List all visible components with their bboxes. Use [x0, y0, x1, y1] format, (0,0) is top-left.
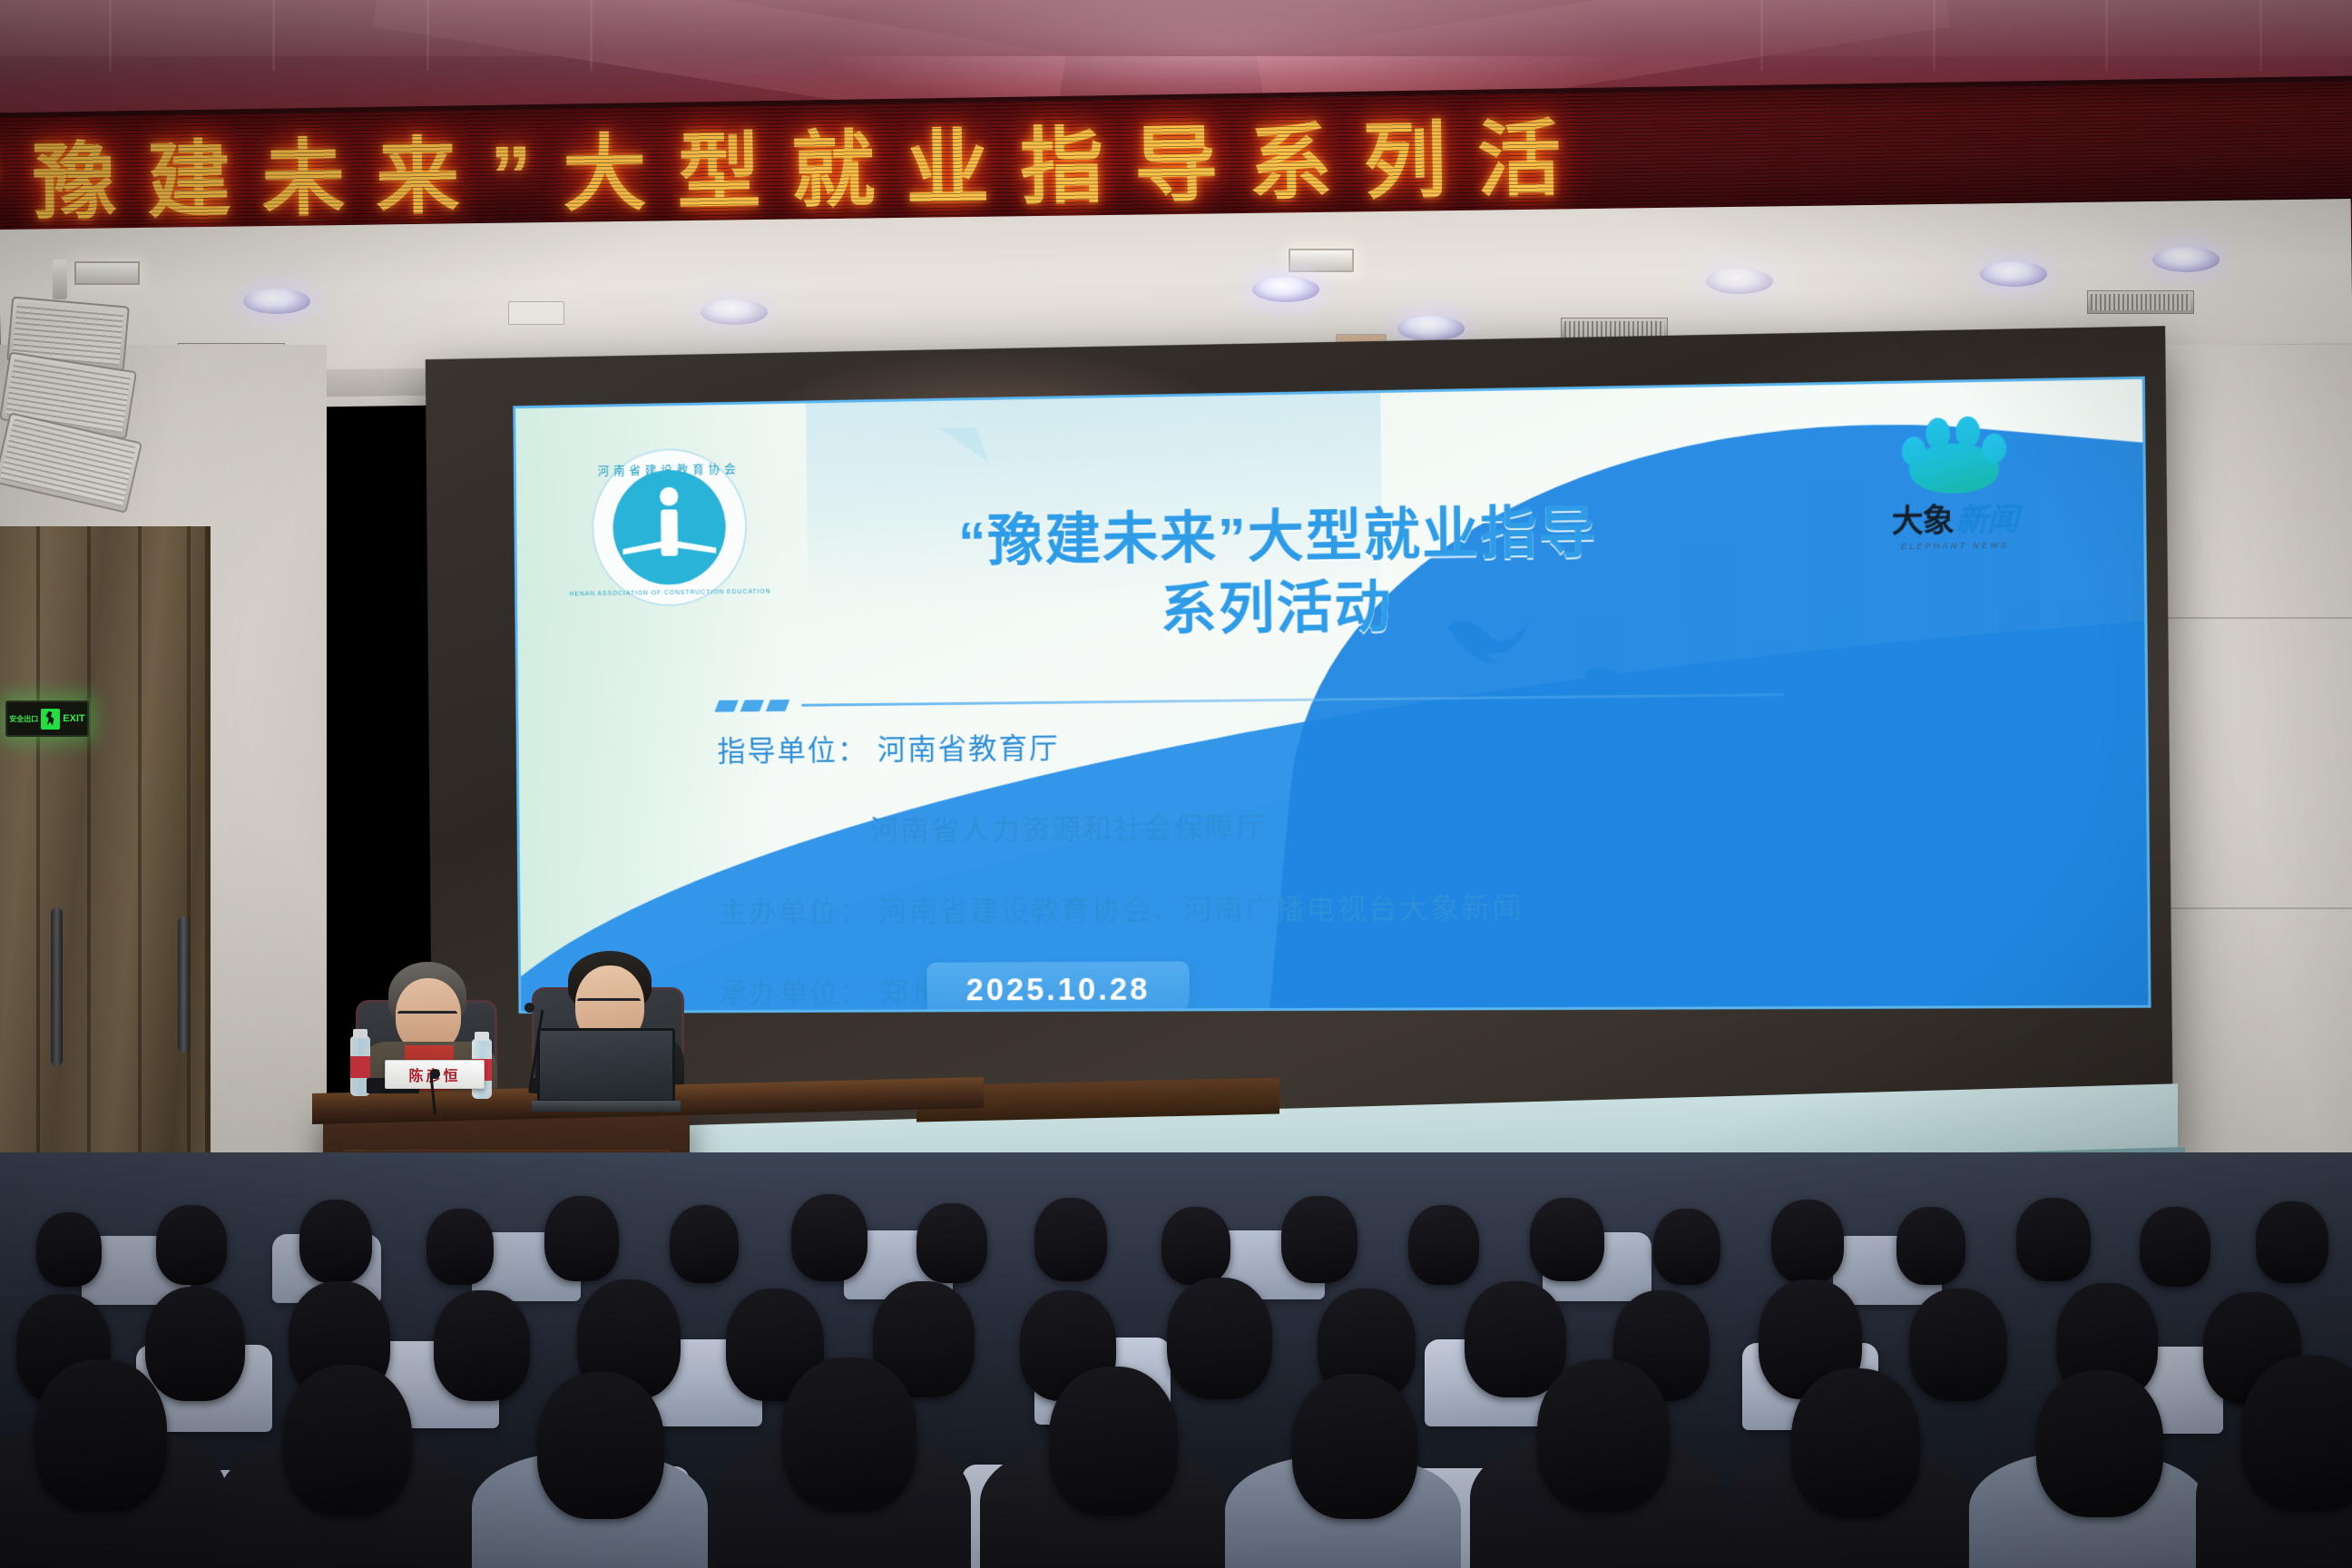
ceiling-downlight	[1397, 316, 1465, 341]
audience-head	[34, 1359, 167, 1512]
brand-cn-daxiang: 大象	[1891, 495, 1953, 542]
audience-head	[1896, 1207, 1965, 1285]
slide-title: “豫建未来”大型就业指导 系列活动	[752, 494, 1814, 652]
logo-left-disc	[612, 469, 726, 585]
audience-head	[36, 1212, 102, 1287]
projection-screen: 河南省建设教育协会 HENAN ASSOCIATION OF CONSTRUCT…	[513, 377, 2151, 1014]
audience-head	[1292, 1374, 1417, 1519]
slide-date-badge: 2025.10.28	[926, 961, 1190, 1013]
door-handle[interactable]	[178, 916, 190, 1053]
audience-head	[544, 1196, 619, 1281]
ceiling-downlight	[701, 299, 768, 325]
emergency-exit-sign: 安全出口 EXIT	[5, 701, 89, 737]
audience-head	[1771, 1200, 1844, 1283]
audience-head	[537, 1372, 664, 1519]
divider-dash	[766, 700, 789, 711]
running-man-icon	[41, 709, 60, 730]
audience-head	[2256, 1201, 2328, 1283]
brand-en-text: ELEPHANT NEWS	[1857, 540, 2053, 552]
logo-figure-body	[661, 509, 678, 556]
exit-sign-label-cn: 安全出口	[9, 714, 38, 724]
audience-head	[2241, 1356, 2352, 1512]
wall-sconce	[53, 260, 67, 299]
ceiling-spotlight	[1289, 249, 1354, 272]
audience-head	[1161, 1207, 1230, 1285]
eyeglasses	[397, 1011, 457, 1019]
audience-head	[1049, 1367, 1178, 1515]
audience-head	[2036, 1370, 2163, 1517]
paw-toe	[1982, 434, 2006, 464]
audience-head	[670, 1205, 739, 1283]
ceiling-sensor	[508, 301, 564, 325]
audience-head	[2016, 1198, 2091, 1281]
elephant-news-wordmark: 大象 新闻	[1857, 494, 2053, 542]
door-handle[interactable]	[51, 907, 63, 1066]
door-groove	[87, 526, 91, 1216]
ceiling-stripe	[1933, 0, 1935, 71]
ceiling-stripe	[1760, 0, 1763, 71]
slide-body-line: 承办单位： 郑州铁路职业技术学院	[720, 965, 1890, 1012]
audience-head	[1034, 1198, 1107, 1281]
slide-title-line2: 系列活动	[752, 566, 1813, 652]
logo-figure-head	[660, 487, 679, 506]
audience-head	[156, 1205, 227, 1285]
audience-head	[1909, 1289, 2007, 1401]
ceiling-stripe	[109, 0, 112, 71]
brand-cn-xinwen: 新闻	[1955, 494, 2018, 540]
audience-head	[916, 1203, 987, 1283]
door-groove	[138, 526, 142, 1216]
ceiling-spotlight	[74, 261, 140, 285]
audience-head	[1408, 1205, 1479, 1285]
audience-head	[2140, 1207, 2210, 1287]
slide-body: 指导单位： 河南省教育厅 河南省人力资源和社会保障厅 主办单位： 河南省建设教育…	[717, 717, 1889, 1014]
auditorium-scene: “豫建未来”大型就业指导系列活 安全出口 EXIT	[0, 0, 2352, 1568]
divider-dash	[740, 700, 764, 711]
divider-dash	[714, 701, 738, 712]
audience-head	[283, 1365, 412, 1515]
ceiling-downlight	[1980, 261, 2047, 287]
audience-head	[1281, 1196, 1357, 1283]
bottle-label	[350, 1056, 370, 1078]
elephant-paw-icon	[1897, 415, 2010, 494]
audience-head	[1537, 1359, 1670, 1512]
slide-body-line: 指导单位： 河南省教育厅	[717, 717, 1886, 770]
elephant-news-logo: 大象 新闻 ELEPHANT NEWS	[1856, 414, 2053, 555]
projection-screen-frame: 河南省建设教育协会 HENAN ASSOCIATION OF CONSTRUCT…	[426, 326, 2173, 1160]
presentation-slide: 河南省建设教育协会 HENAN ASSOCIATION OF CONSTRUCT…	[513, 377, 2151, 1014]
ceiling-stripe	[2105, 0, 2108, 71]
ceiling-stripe	[2259, 0, 2262, 71]
audience-head	[1791, 1368, 1920, 1517]
audience-head	[1530, 1198, 1604, 1281]
ceiling-stripe	[272, 0, 275, 71]
ceiling-stripe	[426, 0, 429, 71]
slide-body-line: 主办单位： 河南省建设教育协会、河南广播电视台大象新闻	[719, 883, 1888, 932]
bottle-cap	[353, 1029, 367, 1038]
side-door[interactable]	[0, 526, 211, 1216]
audience-area	[0, 1152, 2352, 1568]
audience-head	[426, 1209, 494, 1285]
laptop-screen	[537, 1028, 675, 1102]
laptop-keyboard	[532, 1101, 681, 1112]
slide-body-line: 河南省人力资源和社会保障厅	[870, 799, 1888, 849]
bottle-cap	[475, 1032, 489, 1041]
ceiling-stripe	[590, 0, 593, 71]
audience-head	[791, 1194, 867, 1281]
door-groove	[36, 526, 40, 1216]
ceiling-downlight	[2152, 247, 2220, 272]
audience-head	[1167, 1278, 1272, 1399]
eyeglasses	[577, 998, 641, 1006]
ceiling-downlight	[1252, 277, 1319, 302]
ceiling-downlight	[243, 289, 310, 314]
ceiling-downlight	[1706, 269, 1773, 294]
door-groove	[187, 526, 191, 1216]
ceiling-vent	[2087, 290, 2194, 314]
ceiling-panel	[0, 0, 2352, 56]
microphone-head	[524, 1003, 534, 1013]
paw-toe	[1955, 416, 1980, 448]
audience-head	[434, 1290, 530, 1401]
audience-head	[1465, 1281, 1566, 1397]
exit-sign-label-en: EXIT	[63, 713, 84, 724]
audience-head	[145, 1287, 245, 1401]
audience-head	[782, 1357, 916, 1512]
audience-head	[1653, 1209, 1720, 1285]
audience-head	[299, 1200, 372, 1283]
